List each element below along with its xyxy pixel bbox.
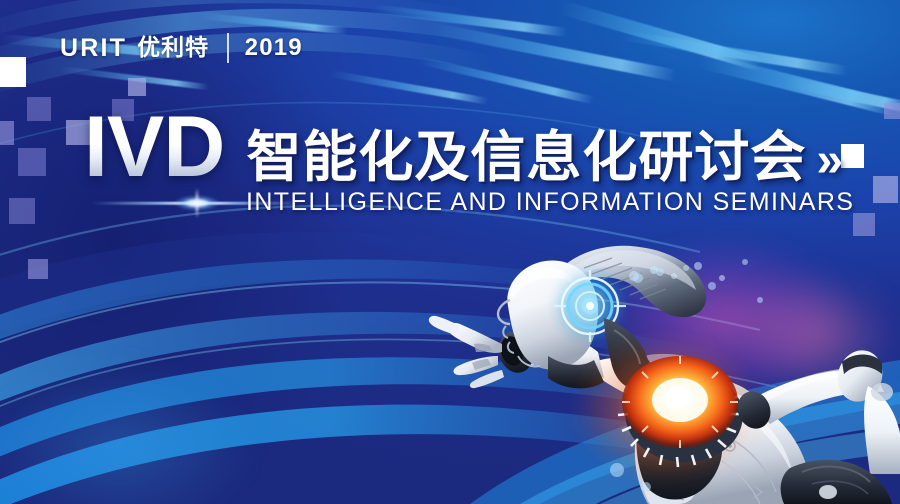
square-lav-5 (18, 148, 46, 176)
humanoid-robot-illustration (398, 196, 900, 504)
brand-divider (227, 33, 229, 63)
particle-4 (708, 282, 716, 290)
main-title: IVD 智能化及信息化研讨会 » (84, 106, 841, 189)
particle-7 (641, 482, 651, 492)
brand-year-text: 2019 (245, 36, 303, 60)
chevron-right-icon: » (816, 133, 841, 188)
brand-logo: URIT 优利特 2019 (60, 33, 303, 63)
title-acronym: IVD (84, 106, 224, 189)
square-lav-7 (28, 259, 48, 279)
title-chinese: 智能化及信息化研讨会 (246, 130, 806, 185)
particle-2 (656, 268, 664, 276)
square-white-right (841, 144, 864, 168)
brand-chinese-text: 优利特 (137, 37, 209, 60)
square-lav-4 (0, 121, 14, 145)
brand-latin-text: URIT (60, 36, 127, 61)
particle-6 (610, 463, 624, 477)
particle-3 (683, 265, 689, 271)
square-lav-8 (128, 78, 146, 96)
particle-1 (633, 273, 643, 283)
square-lav-1 (27, 97, 51, 121)
promo-banner: URIT 优利特 2019 IVD 智能化及信息化研讨会 » INTELLIGE… (0, 0, 900, 504)
particle-8 (757, 297, 763, 303)
subtitle-text: INTELLIGENCE AND INFORMATION SEMINARS (246, 188, 854, 217)
square-lav-11 (884, 103, 900, 119)
square-white-left-edge (0, 57, 26, 87)
particle-5 (742, 259, 748, 265)
square-lav-6 (9, 198, 35, 224)
